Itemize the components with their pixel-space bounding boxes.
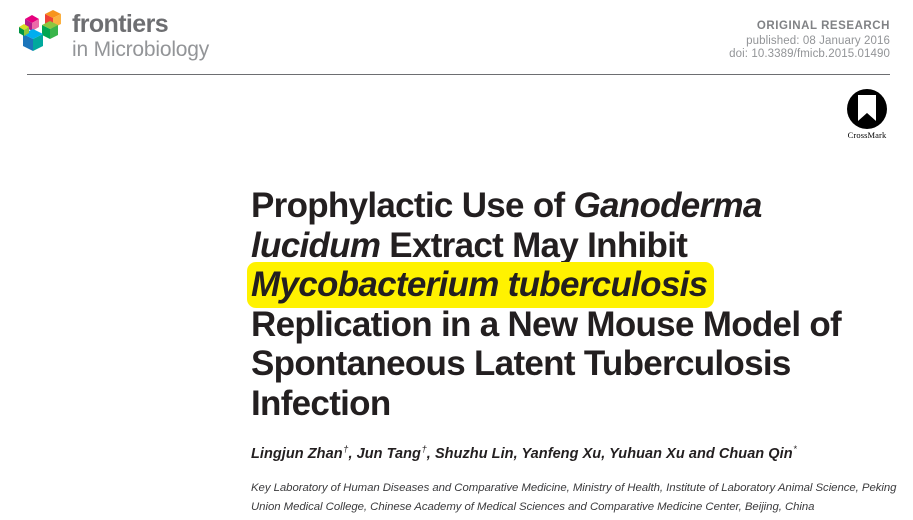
title-segment-plain-4: Spontaneous Latent Tuberculosis — [251, 344, 791, 383]
crossmark-icon — [846, 88, 888, 130]
author-name[interactable]: Chuan Qin — [719, 446, 793, 462]
author-name[interactable]: Shuzhu Lin — [435, 446, 514, 462]
published-date: published: 08 January 2016 — [729, 35, 890, 49]
journal-wordmark-subtitle: in Microbiology — [72, 38, 252, 62]
article-type-label: ORIGINAL RESEARCH — [729, 20, 890, 34]
author-name[interactable]: Yuhuan Xu — [609, 446, 685, 462]
article-metadata: ORIGINAL RESEARCH published: 08 January … — [729, 20, 890, 62]
author-name[interactable]: Yanfeng Xu — [521, 446, 601, 462]
title-segment-species-lucidum: lucidum — [251, 226, 380, 265]
article-title: Prophylactic Use of Ganodermalucidum Ext… — [251, 186, 901, 423]
title-segment-plain-5: Infection — [251, 384, 391, 423]
article-authors: Lingjun Zhan†, Jun Tang†, Shuzhu Lin, Ya… — [251, 445, 901, 463]
journal-logo[interactable]: frontiers in Microbiology — [17, 8, 239, 66]
author-name[interactable]: Jun Tang — [357, 446, 421, 462]
article-doi[interactable]: doi: 10.3389/fmicb.2015.01490 — [729, 48, 890, 62]
author-marker: * — [793, 444, 797, 455]
title-segment-plain-2: Extract May Inhibit — [380, 226, 687, 265]
crossmark-badge[interactable]: CrossMark — [840, 88, 894, 140]
title-segment-plain-1: Prophylactic Use of — [251, 186, 573, 225]
title-segment-species-ganoderma: Ganoderma — [573, 186, 761, 225]
author-name[interactable]: Lingjun Zhan — [251, 446, 343, 462]
author-marker: † — [343, 444, 349, 455]
crossmark-label: CrossMark — [840, 130, 894, 140]
title-segment-plain-3: Replication in a New Mouse Model of — [251, 305, 841, 344]
journal-wordmark: frontiers in Microbiology — [72, 12, 252, 62]
title-segment-highlighted-mtb: Mycobacterium tuberculosis — [247, 262, 714, 308]
article-affiliation: Key Laboratory of Human Diseases and Com… — [251, 479, 903, 517]
author-marker: † — [421, 444, 427, 455]
header-divider — [27, 74, 890, 75]
journal-wordmark-main: frontiers — [72, 12, 252, 37]
article-header-block: Prophylactic Use of Ganodermalucidum Ext… — [251, 186, 901, 517]
frontiers-cubes-logo-icon — [17, 10, 65, 56]
page-masthead: frontiers in Microbiology ORIGINAL RESEA… — [0, 0, 913, 75]
